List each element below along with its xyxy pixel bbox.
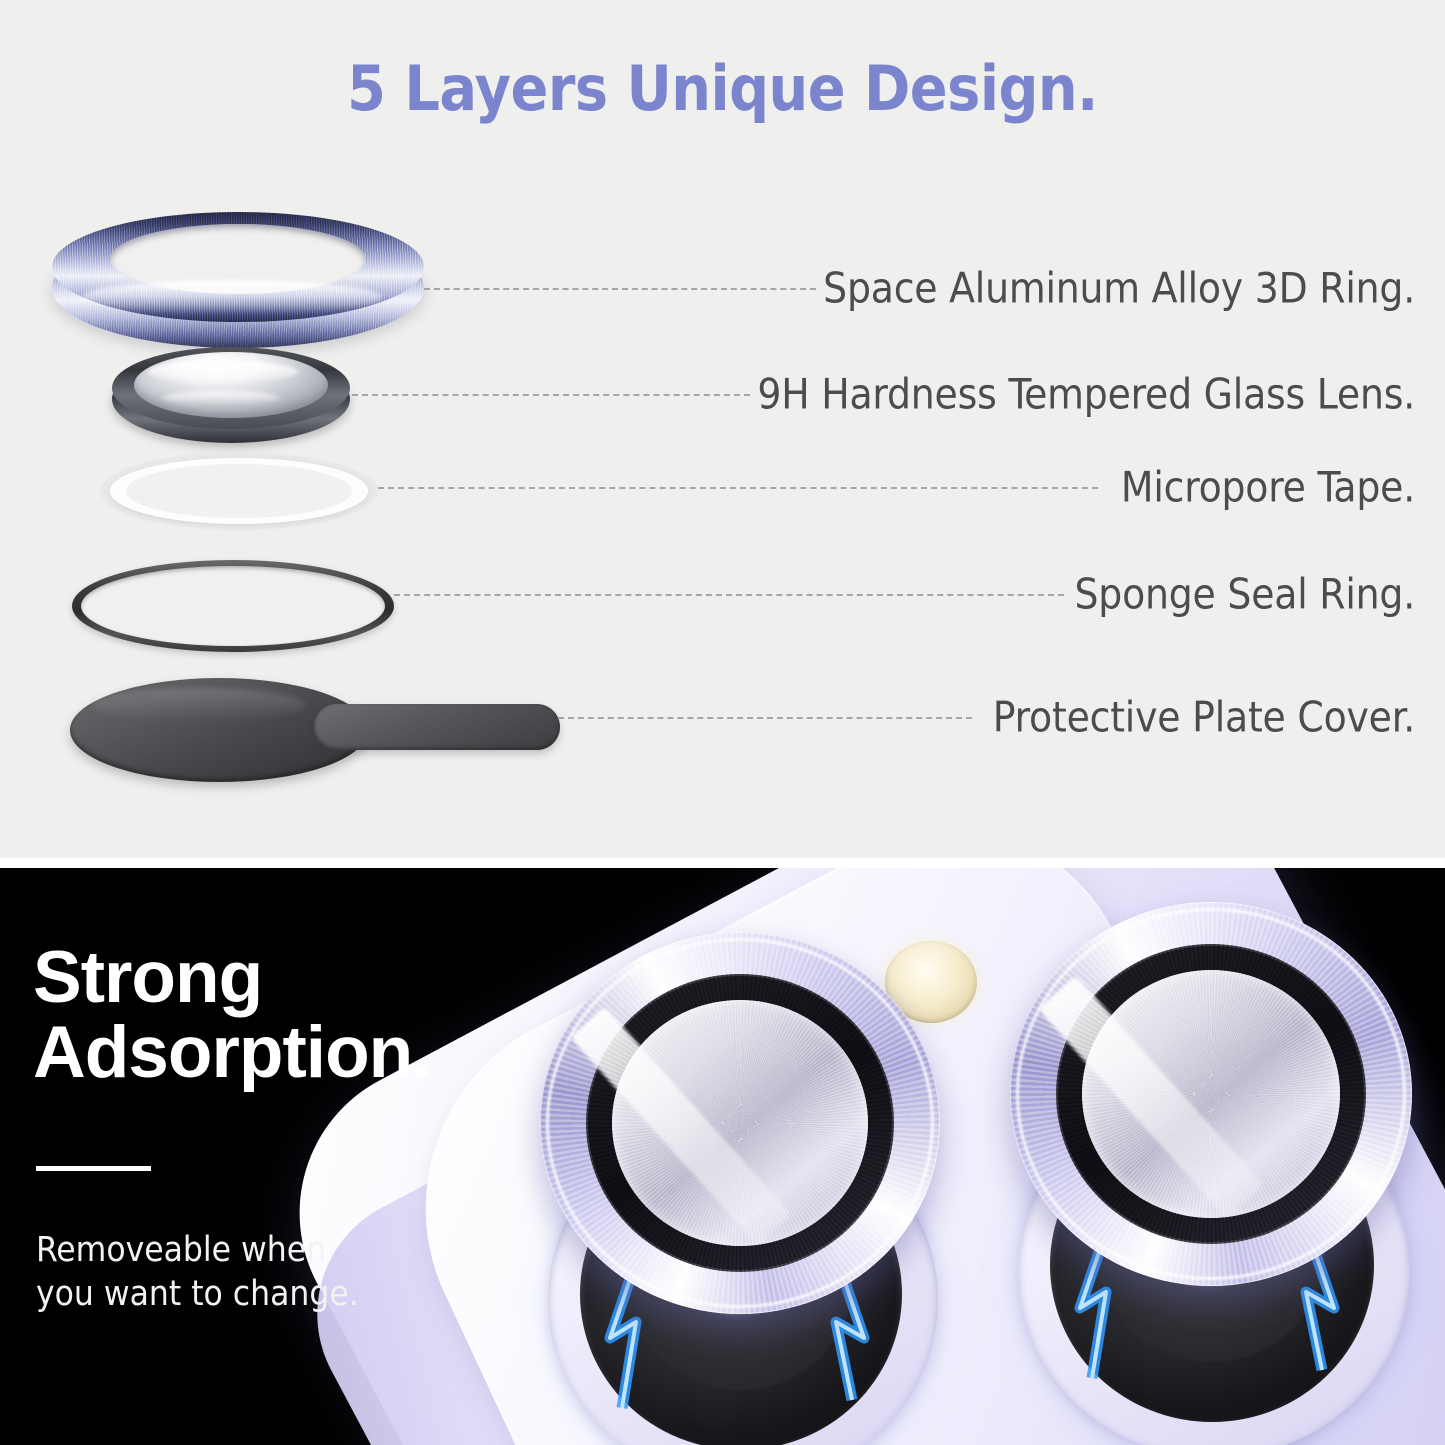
protector-glass-right — [1082, 970, 1340, 1218]
section-divider — [0, 858, 1445, 868]
leader-line-4 — [394, 594, 1064, 596]
aluminum-3d-ring-art — [52, 228, 424, 348]
protector-rim-light-left — [546, 938, 934, 1308]
protector-rim-light-right — [1016, 908, 1406, 1280]
leader-line-2 — [352, 394, 750, 396]
layer-label-4: Sponge Seal Ring. — [1075, 570, 1416, 619]
protector-glass-left — [612, 1000, 868, 1246]
protective-plate-cover-art — [70, 678, 560, 782]
strong-adsorption-panel: Strong Adsorption. Removeable when you w… — [0, 868, 1445, 1445]
glass-reflection-streak-right — [1038, 975, 1264, 1218]
ring-gloss-highlight — [82, 280, 382, 314]
sponge-ring-aperture — [81, 566, 385, 646]
five-layers-panel: 5 Layers Unique Design. Space Aluminum A… — [0, 0, 1445, 858]
tempered-glass-lens-art — [112, 355, 350, 443]
protector-black-bezel-left — [586, 974, 894, 1272]
lens-highlight-lower — [162, 391, 280, 405]
tape-aperture — [126, 464, 352, 518]
lens-protector-ring-left[interactable] — [540, 932, 940, 1314]
leader-line-1 — [424, 288, 816, 290]
product-infographic-page: 5 Layers Unique Design. Space Aluminum A… — [0, 0, 1445, 1445]
protector-black-bezel-right — [1056, 944, 1366, 1244]
lens-protector-ring-right[interactable] — [1010, 902, 1412, 1286]
sponge-seal-ring-art — [72, 560, 394, 652]
micropore-tape-art — [100, 452, 378, 530]
page-title: 5 Layers Unique Design. — [0, 52, 1445, 125]
glass-reflection-streak-left — [570, 1007, 792, 1246]
layer-label-3: Micropore Tape. — [1121, 463, 1415, 512]
leader-line-5 — [558, 717, 972, 719]
phone-product-photo — [430, 868, 1445, 1445]
layer-label-1: Space Aluminum Alloy 3D Ring. — [823, 264, 1415, 313]
leader-line-3 — [378, 487, 1098, 489]
lens-highlight-upper — [148, 361, 298, 383]
headline-underline-rule — [36, 1166, 151, 1171]
layer-label-5: Protective Plate Cover. — [993, 693, 1415, 742]
adsorption-subtext: Removeable when you want to change. — [36, 1228, 359, 1317]
plate-sheen-highlight — [92, 688, 306, 722]
plate-pull-tab — [314, 704, 560, 750]
layer-label-2: 9H Hardness Tempered Glass Lens. — [757, 370, 1415, 419]
adsorption-headline: Strong Adsorption. — [33, 940, 432, 1090]
